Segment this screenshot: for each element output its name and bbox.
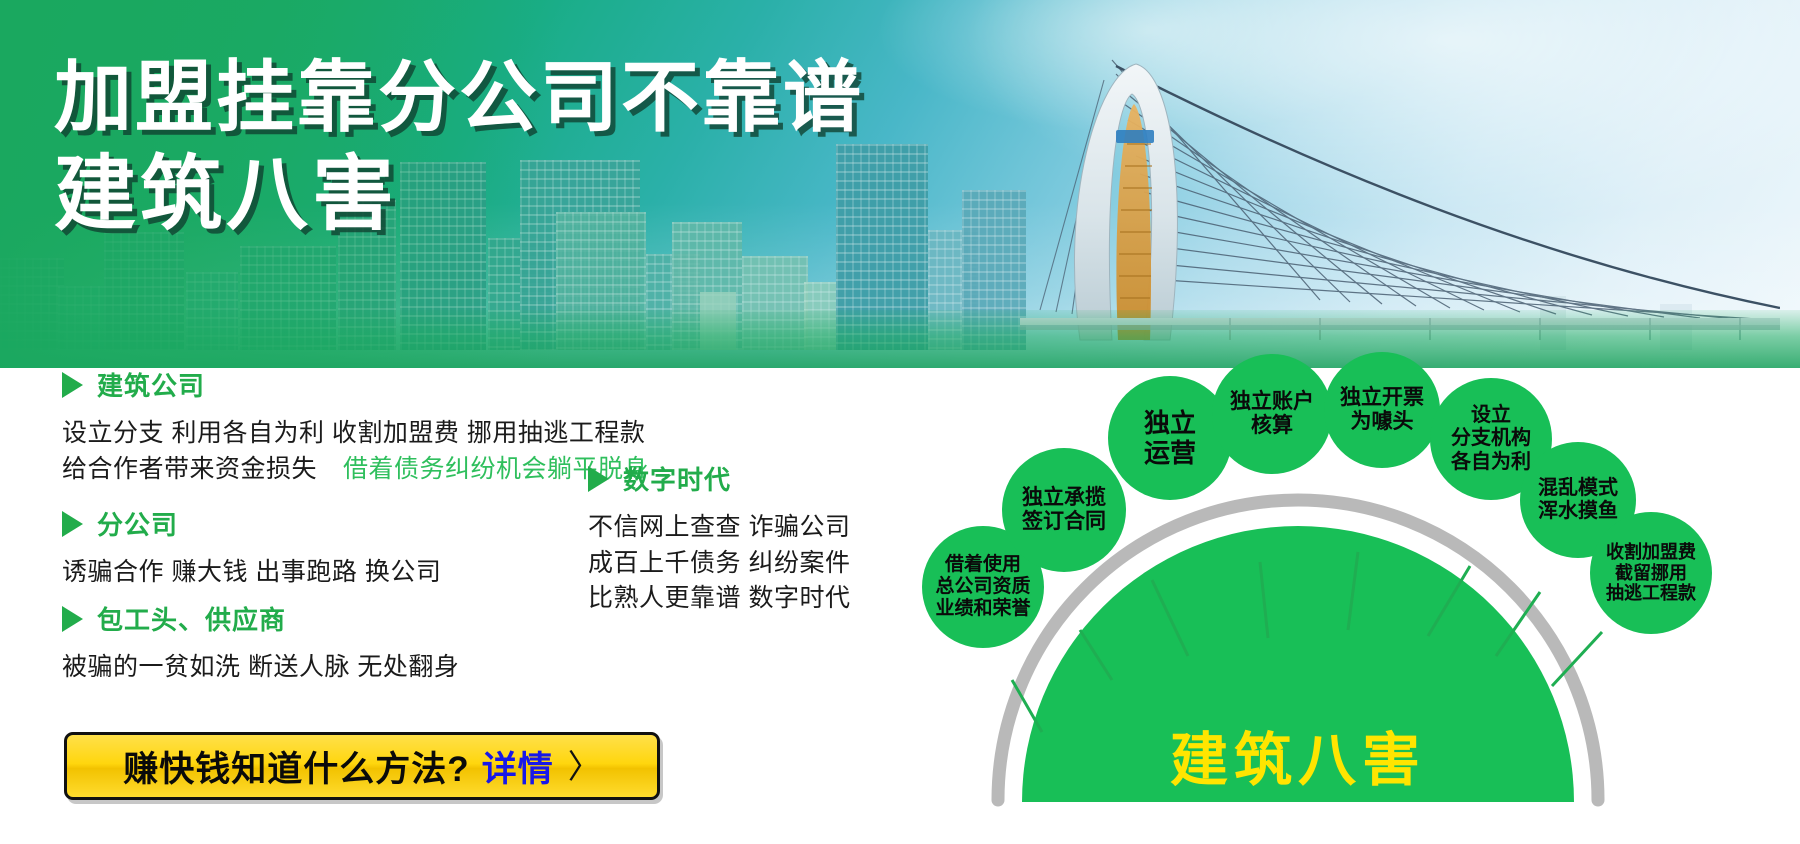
bubble-line: 运营 [1144, 438, 1196, 468]
section-line-2: 给合作者带来资金损失借着债务纠纷机会躺平脱身 [62, 452, 649, 488]
hero-title-line1: 加盟挂靠分公司不靠谱 [54, 54, 864, 141]
section-heading: 包工头、供应商 [62, 600, 459, 637]
bubble-line: 核算 [1230, 414, 1314, 438]
bubble-line: 浑水摸鱼 [1538, 500, 1618, 523]
hero-title-block: 加盟挂靠分公司不靠谱 建筑八害 [54, 54, 864, 244]
section-title: 分公司 [97, 505, 178, 542]
bubble-independent-invoicing[interactable]: 独立开票 为噱头 [1324, 352, 1440, 468]
bubble-independent-contracting[interactable]: 独立承揽 签订合同 [1002, 448, 1126, 572]
bubble-franchise-fee-siphoning[interactable]: 收割加盟费 截留挪用 抽逃工程款 [1590, 512, 1712, 634]
section-line-1: 被骗的一贫如洗 断送人脉 无处翻身 [62, 650, 459, 686]
triangle-bullet-icon [588, 466, 609, 492]
bubble-line: 签订合同 [1022, 510, 1106, 534]
triangle-bullet-icon [62, 511, 83, 537]
cta-label: 赚快钱知道什么方法? [123, 741, 469, 792]
section-branch-company: 分公司 诱骗合作 赚大钱 出事跑路 换公司 [62, 505, 441, 591]
section-title: 数字时代 [623, 460, 731, 497]
triangle-bullet-icon [62, 372, 83, 398]
section-line-3: 比熟人更靠谱 数字时代 [588, 581, 850, 617]
bubble-line: 独立开票 [1340, 386, 1424, 410]
section-line-1: 设立分支 利用各自为利 收割加盟费 挪用抽逃工程款 [62, 416, 649, 452]
section-line-1: 诱骗合作 赚大钱 出事跑路 换公司 [62, 555, 441, 591]
section-digital-era: 数字时代 不信网上查查 诈骗公司 成百上千债务 纠纷案件 比熟人更靠谱 数字时代 [588, 460, 850, 617]
cta-detail-link[interactable]: 详情 [482, 741, 554, 792]
triangle-bullet-icon [62, 606, 83, 632]
section-line-2: 成百上千债务 纠纷案件 [588, 546, 850, 582]
cta-button[interactable]: 赚快钱知道什么方法? 详情 〉 [64, 732, 660, 800]
bubble-line: 独立承揽 [1022, 486, 1106, 510]
arch-diagram: 建筑八害 借着使用 总公司资质 业绩和荣誉 独立承揽 签订合同 独立 运营 [930, 380, 1800, 844]
section-line-1: 不信网上查查 诈骗公司 [588, 510, 850, 546]
section-heading: 数字时代 [588, 460, 850, 497]
bridge-illustration [1020, 50, 1780, 350]
bubble-line: 业绩和荣誉 [935, 598, 1030, 620]
poster-root: 加盟挂靠分公司不靠谱 建筑八害 建筑公司 设立分支 利用各自为利 收割加盟费 挪… [0, 0, 1800, 844]
bubble-line: 分支机构 [1451, 427, 1531, 450]
section-title: 包工头、供应商 [97, 600, 286, 637]
section-title: 建筑公司 [97, 366, 205, 403]
bubble-line: 各自为利 [1451, 451, 1531, 474]
svg-text:建筑八害: 建筑八害 [1170, 728, 1426, 793]
bubble-line: 借着使用 [935, 554, 1030, 576]
bubble-independent-operation[interactable]: 独立 运营 [1108, 376, 1232, 500]
section-heading: 建筑公司 [62, 366, 649, 403]
bubble-line: 独立 [1144, 408, 1196, 438]
bubble-line: 独立账户 [1230, 390, 1314, 414]
chevron-right-icon: 〉 [568, 750, 601, 783]
section-contractor-supplier: 包工头、供应商 被骗的一贫如洗 断送人脉 无处翻身 [62, 600, 459, 686]
bubble-line: 设立 [1451, 404, 1531, 427]
bubble-line: 混乱模式 [1538, 477, 1618, 500]
bubble-line: 为噱头 [1340, 410, 1424, 434]
hero-banner: 加盟挂靠分公司不靠谱 建筑八害 [0, 0, 1800, 368]
bubble-independent-account[interactable]: 独立账户 核算 [1212, 354, 1332, 474]
section-heading: 分公司 [62, 505, 441, 542]
bubble-line: 总公司资质 [935, 576, 1030, 598]
bubble-line: 截留挪用 [1606, 563, 1696, 584]
bubble-line: 抽逃工程款 [1606, 583, 1696, 604]
section-construction-company: 建筑公司 设立分支 利用各自为利 收割加盟费 挪用抽逃工程款 给合作者带来资金损… [62, 366, 649, 487]
bubble-line: 收割加盟费 [1606, 542, 1696, 563]
hero-title-line2: 建筑八害 [54, 147, 864, 244]
section-line-2-black: 给合作者带来资金损失 [62, 455, 317, 483]
